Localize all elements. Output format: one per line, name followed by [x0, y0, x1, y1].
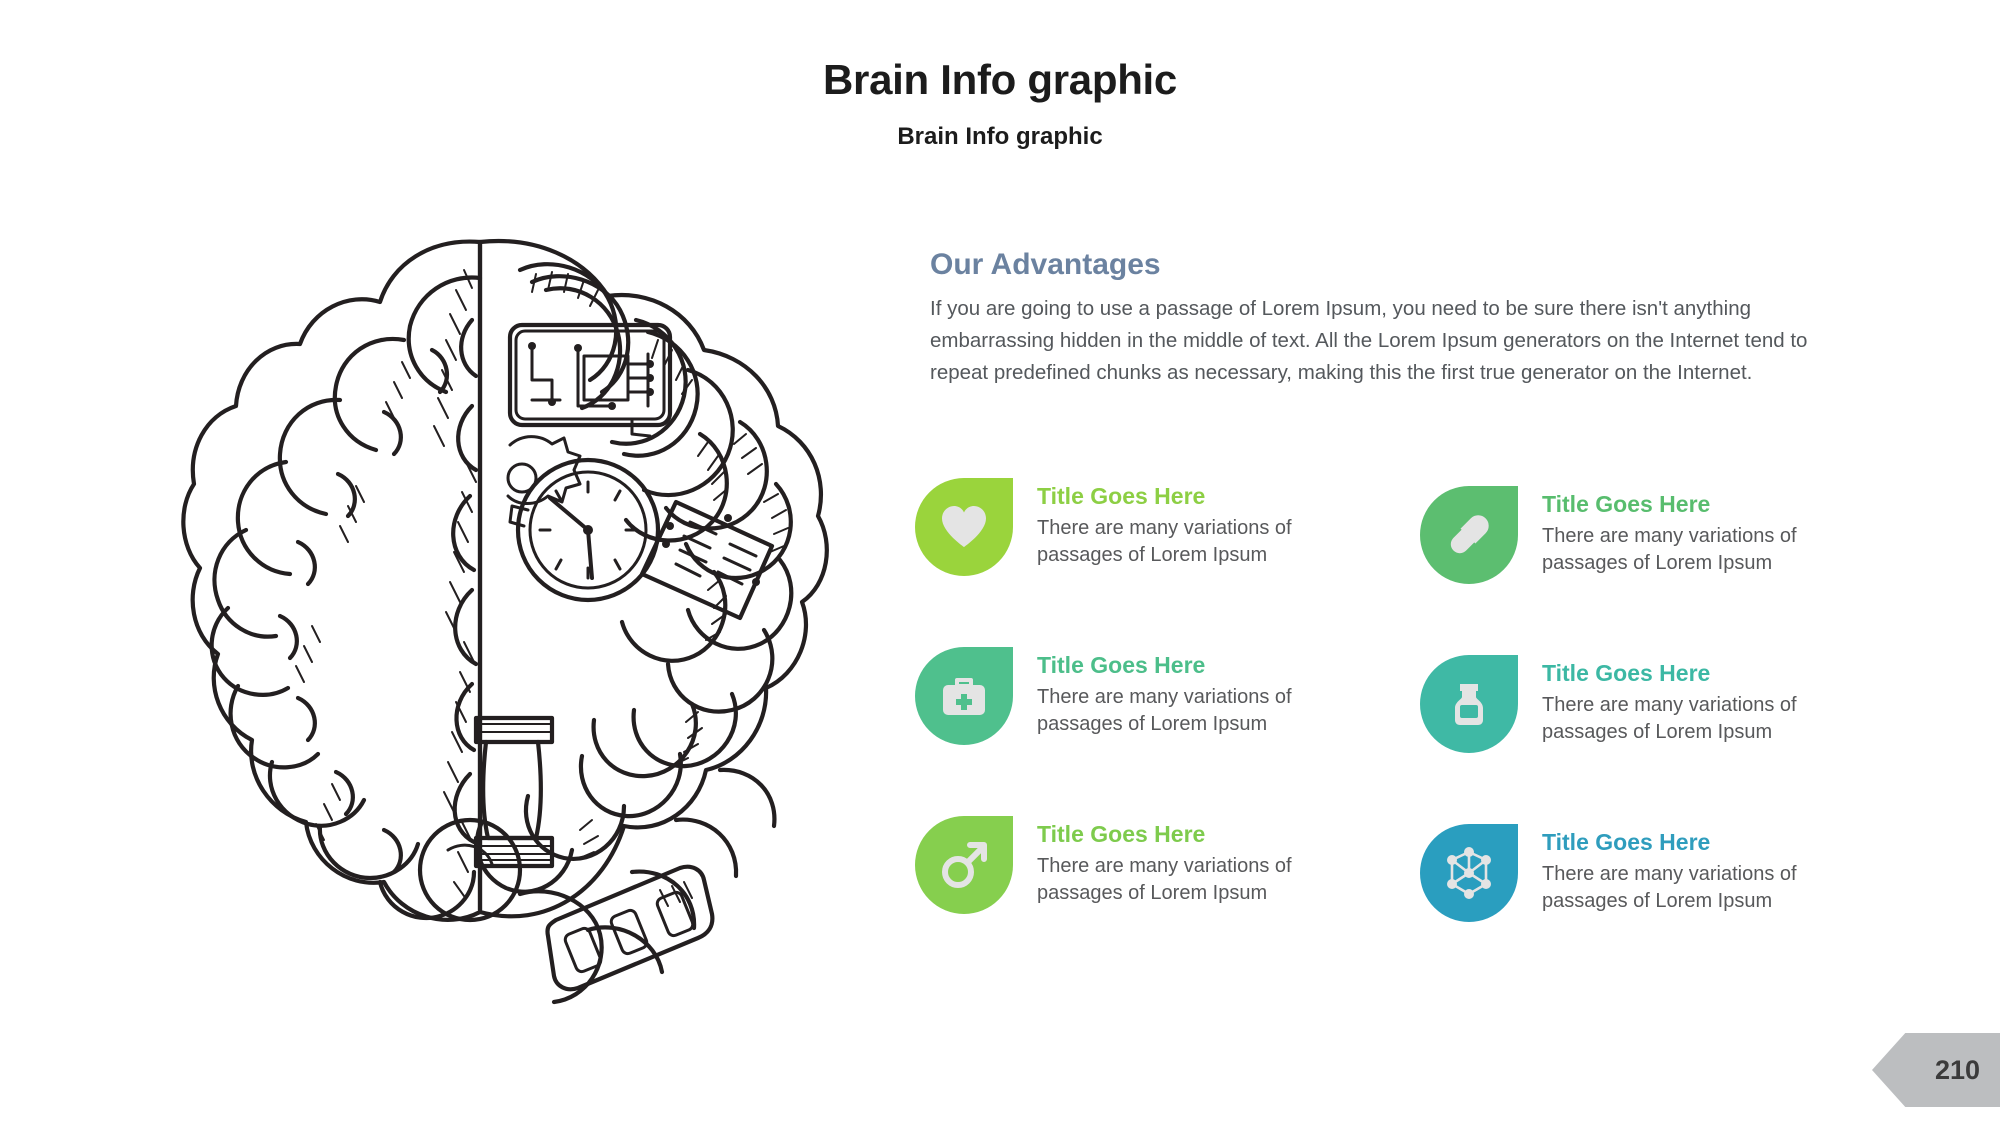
feature-desc-4: There are many variations of passages of… [1542, 692, 1882, 746]
advantages-body-text: If you are going to use a passage of Lor… [930, 293, 1810, 390]
slide-header: Brain Info graphic Brain Info graphic [0, 58, 2000, 149]
medicine-bottle-icon [1443, 678, 1495, 730]
feature-desc-5: There are many variations of passages of… [1037, 853, 1377, 907]
feature-title-1: Title Goes Here [1037, 483, 1377, 509]
feature-desc-1: There are many variations of passages of… [1037, 515, 1377, 569]
first-aid-kit-icon [938, 670, 990, 722]
feature-desc-6: There are many variations of passages of… [1542, 861, 1882, 915]
capsule-pill-icon [1443, 509, 1495, 561]
feature-item-1[interactable]: Title Goes Here There are many variation… [915, 478, 1420, 584]
advantages-heading: Our Advantages [930, 248, 1850, 281]
switch-panel-doodle [547, 867, 712, 990]
feature-text-5: Title Goes Here There are many variation… [1037, 816, 1377, 907]
feature-item-5[interactable]: Title Goes Here There are many variation… [915, 816, 1420, 922]
feature-title-2: Title Goes Here [1542, 491, 1882, 517]
feature-text-6: Title Goes Here There are many variation… [1542, 824, 1882, 915]
feature-badge-2 [1420, 486, 1518, 584]
feature-text-4: Title Goes Here There are many variation… [1542, 655, 1882, 746]
heart-icon [938, 501, 990, 553]
page-subtitle: Brain Info graphic [0, 124, 2000, 149]
page-number-badge: 210 [1872, 1033, 2000, 1107]
feature-item-4[interactable]: Title Goes Here There are many variation… [1420, 647, 1925, 753]
feature-row: Title Goes Here There are many variation… [915, 478, 1925, 584]
feature-title-3: Title Goes Here [1037, 652, 1377, 678]
feature-badge-3 [915, 647, 1013, 745]
pocket-watch-doodle [510, 460, 658, 600]
feature-badge-1 [915, 478, 1013, 576]
feature-item-6[interactable]: Title Goes Here There are many variation… [1420, 816, 1925, 922]
slide-canvas: Brain Info graphic Brain Info graphic [0, 0, 2000, 1125]
male-gender-icon [938, 839, 990, 891]
brain-left-hemisphere [183, 242, 480, 920]
feature-grid: Title Goes Here There are many variation… [915, 478, 1925, 922]
feature-desc-3: There are many variations of passages of… [1037, 684, 1377, 738]
page-number: 210 [1935, 1057, 1980, 1084]
feature-desc-2: There are many variations of passages of… [1542, 523, 1882, 577]
feature-row: Title Goes Here There are many variation… [915, 816, 1925, 922]
feature-row: Title Goes Here There are many variation… [915, 647, 1925, 753]
feature-title-4: Title Goes Here [1542, 660, 1882, 686]
feature-title-5: Title Goes Here [1037, 821, 1377, 847]
memory-card-doodle [642, 502, 772, 618]
feature-title-6: Title Goes Here [1542, 829, 1882, 855]
feature-text-1: Title Goes Here There are many variation… [1037, 478, 1377, 569]
molecule-network-icon [1442, 846, 1496, 900]
page-title: Brain Info graphic [0, 58, 2000, 102]
doodle-brain-illustration [180, 230, 840, 1010]
advantages-block: Our Advantages If you are going to use a… [930, 248, 1850, 390]
feature-badge-4 [1420, 655, 1518, 753]
brain-right-mechanical-half [420, 241, 827, 1002]
feature-text-3: Title Goes Here There are many variation… [1037, 647, 1377, 738]
knob-doodle [420, 820, 520, 920]
feature-text-2: Title Goes Here There are many variation… [1542, 486, 1882, 577]
feature-badge-6 [1420, 824, 1518, 922]
feature-item-3[interactable]: Title Goes Here There are many variation… [915, 647, 1420, 753]
feature-item-2[interactable]: Title Goes Here There are many variation… [1420, 478, 1925, 584]
feature-badge-5 [915, 816, 1013, 914]
